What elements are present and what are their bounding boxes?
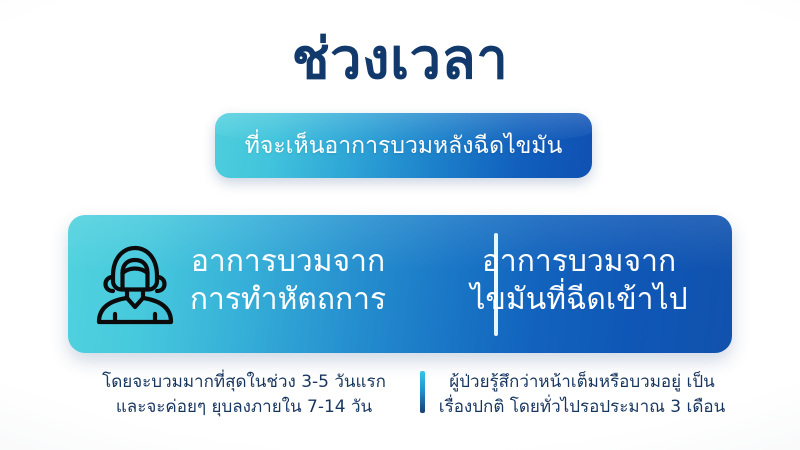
- right-panel-line1: อาการบวมจาก: [446, 243, 712, 281]
- infographic-canvas: ช่วงเวลา ที่จะเห็นอาการบวมหลังฉีดไขมัน: [0, 0, 800, 450]
- left-panel-text: อาการบวมจาก การทำหัตถการ: [168, 243, 408, 319]
- right-caption-line1: ผู้ป่วยรู้สึกว่าหน้าเต็มหรือบวมอยู่ เป็น: [434, 370, 730, 395]
- caption-divider-bar: [420, 371, 425, 413]
- left-panel-line1: อาการบวมจาก: [168, 243, 408, 281]
- right-caption: ผู้ป่วยรู้สึกว่าหน้าเต็มหรือบวมอยู่ เป็น…: [434, 370, 730, 420]
- left-caption-line1: โดยจะบวมมากที่สุดในช่วง 3-5 วันแรก: [88, 370, 400, 395]
- left-caption: โดยจะบวมมากที่สุดในช่วง 3-5 วันแรก และจะ…: [88, 370, 400, 420]
- page-title: ช่วงเวลา: [0, 27, 800, 93]
- right-caption-line2: เรื่องปกติ โดยทั่วไปรอประมาณ 3 เดือน: [434, 395, 730, 420]
- right-panel-text: อาการบวมจาก ไขมันที่ฉีดเข้าไป: [446, 243, 712, 319]
- subtitle-pill: ที่จะเห็นอาการบวมหลังฉีดไขมัน: [215, 113, 592, 178]
- patient-person-icon: [92, 243, 178, 327]
- left-caption-line2: และจะค่อยๆ ยุบลงภายใน 7-14 วัน: [88, 395, 400, 420]
- left-panel-line2: การทำหัตถการ: [168, 281, 408, 319]
- subtitle-text: ที่จะเห็นอาการบวมหลังฉีดไขมัน: [245, 131, 563, 161]
- right-panel-line2: ไขมันที่ฉีดเข้าไป: [446, 281, 712, 319]
